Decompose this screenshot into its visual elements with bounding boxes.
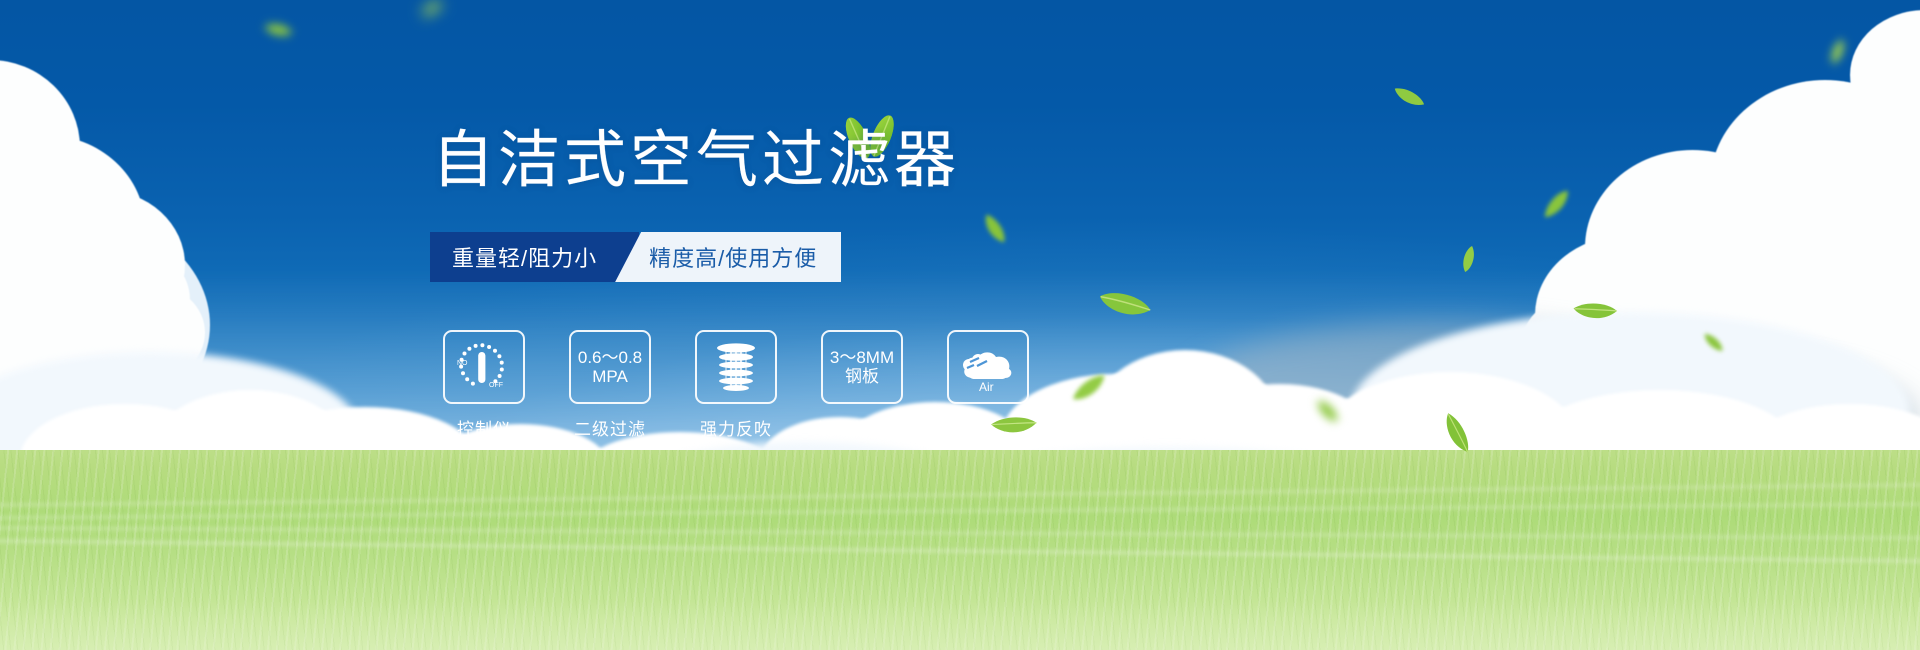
feature-label: 控制仪 (457, 415, 511, 440)
feature-box (695, 330, 777, 404)
steel-plate-text-icon: 3～8MM 钢板 (830, 348, 894, 386)
steel-line-2: 钢板 (830, 367, 894, 386)
tag-precision-convenience[interactable]: 精度高/使用方便 (615, 232, 841, 282)
feature-label: 强力反吹 (700, 415, 772, 440)
feature-item-steel-strength[interactable]: 3～8MM 钢板 钢结构强度 (814, 330, 910, 440)
feature-box: 0.6～0.8 MPA (569, 330, 651, 404)
air-label: Air (979, 380, 994, 394)
pressure-line-1: 0.6～0.8 (578, 348, 642, 367)
tag-weight-resistance[interactable]: 重量轻/阻力小 (430, 232, 639, 282)
feature-label: 钢结构强度 (817, 415, 907, 440)
pressure-line-2: MPA (578, 367, 642, 386)
feature-box: NO OFF (443, 330, 525, 404)
dial-off-label: OFF (489, 382, 503, 389)
feature-box: Air (947, 330, 1029, 404)
feature-item-strong-blowback[interactable]: 强力反吹 (688, 330, 784, 440)
hero-banner: 自洁式空气过滤器 重量轻/阻力小 精度高/使用方便 (0, 0, 1920, 650)
feature-icon-row: NO OFF 控制仪 0.6～0.8 MPA 二级过滤 (436, 330, 1036, 440)
control-dial-icon: NO OFF (453, 339, 515, 395)
tag-bar-group: 重量轻/阻力小 精度高/使用方便 (430, 232, 841, 282)
tag-label: 精度高/使用方便 (649, 241, 817, 273)
feature-label: 二级过滤 (574, 415, 646, 440)
steel-line-1: 3～8MM (830, 348, 894, 367)
tag-label: 重量轻/阻力小 (452, 241, 597, 273)
banner-content: 自洁式空气过滤器 重量轻/阻力小 精度高/使用方便 (0, 0, 1920, 650)
dial-on-label: NO (457, 360, 468, 367)
page-title: 自洁式空气过滤器 (432, 130, 960, 192)
feature-item-two-stage-filter[interactable]: 0.6～0.8 MPA 二级过滤 (562, 330, 658, 440)
filter-cartridge-icon (707, 339, 765, 395)
feature-item-controller[interactable]: NO OFF 控制仪 (436, 330, 532, 440)
feature-box: 3～8MM 钢板 (821, 330, 903, 404)
air-cloud-icon: Air (955, 338, 1021, 396)
pressure-text-icon: 0.6～0.8 MPA (578, 348, 642, 386)
